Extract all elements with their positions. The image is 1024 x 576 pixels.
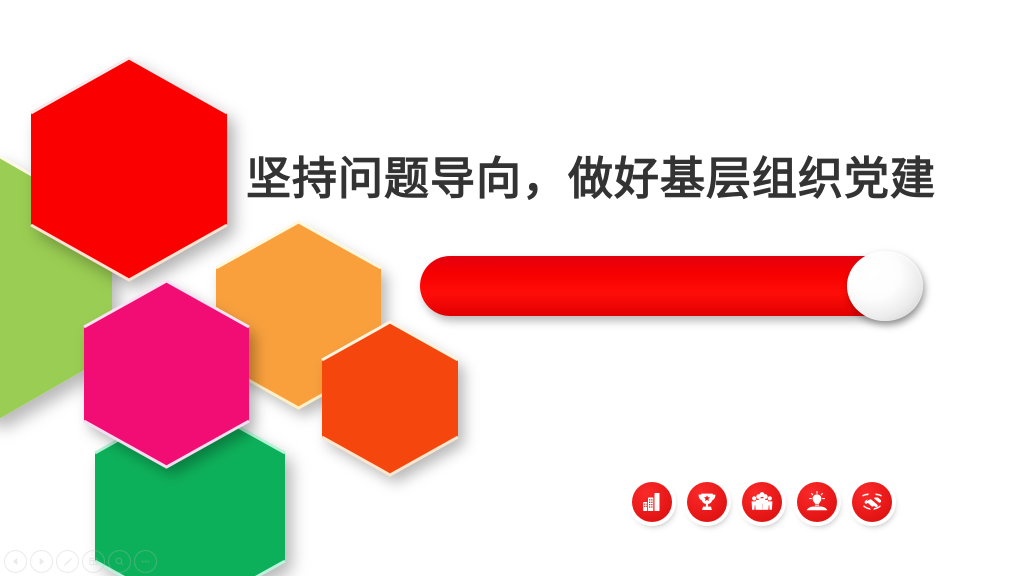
presentation-slide: 坚持问题导向，做好基层组织党建: [0, 0, 1024, 576]
hexagon-green-light: [0, 155, 112, 420]
building-chart-icon[interactable]: [632, 482, 672, 522]
hexagon-pink: [84, 281, 249, 467]
hexagon-orange-red: [322, 322, 458, 475]
pen-tool-button[interactable]: [56, 550, 79, 573]
trophy-icon[interactable]: [687, 482, 727, 522]
slider-track[interactable]: [420, 256, 916, 316]
zoom-button[interactable]: [108, 550, 131, 573]
slider-knob[interactable]: [847, 251, 923, 321]
hexagon-red: [31, 58, 227, 280]
next-slide-button[interactable]: [30, 550, 53, 573]
slide-menu-button[interactable]: [82, 550, 105, 573]
people-group-icon[interactable]: [742, 482, 782, 522]
previous-slide-button[interactable]: [4, 550, 27, 573]
more-options-button[interactable]: [134, 550, 157, 573]
feature-icon-row: [632, 482, 892, 522]
idea-hand-icon[interactable]: [797, 482, 837, 522]
hexagon-orange: [216, 222, 381, 408]
slideshow-controls: [4, 550, 157, 573]
handshake-icon[interactable]: [852, 482, 892, 522]
red-progress-slider[interactable]: [420, 256, 916, 316]
page-title: 坚持问题导向，做好基层组织党建: [246, 148, 966, 210]
